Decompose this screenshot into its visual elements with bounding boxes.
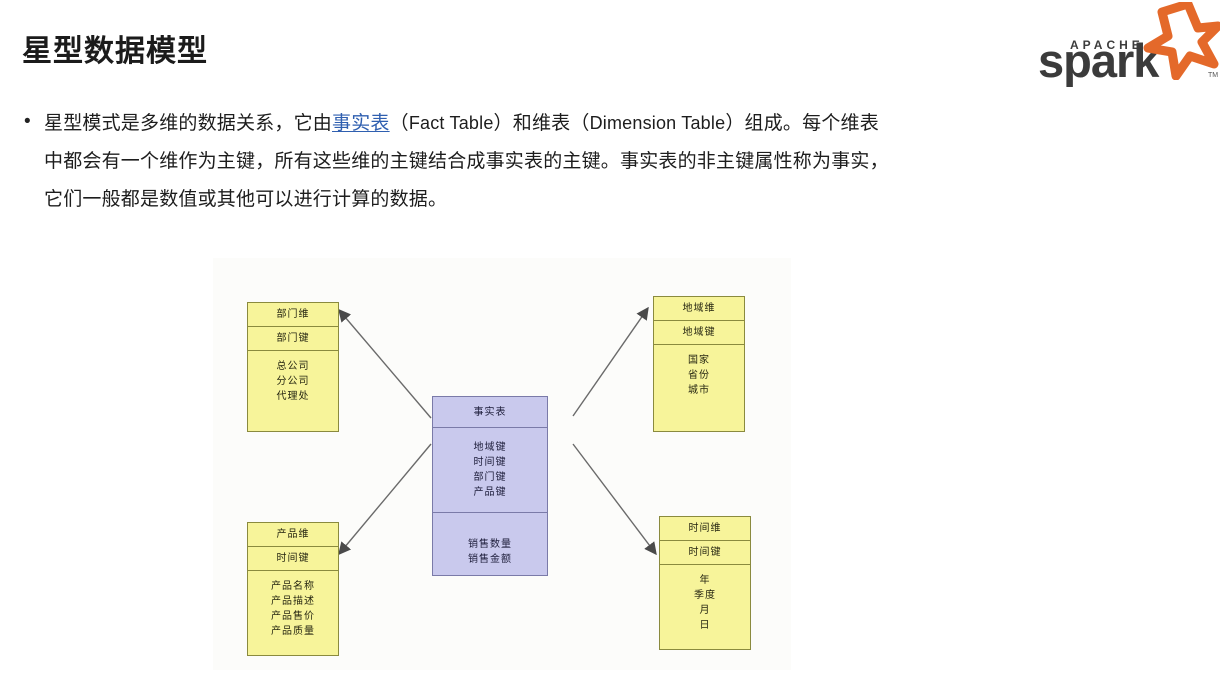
- field-label: 产品描述: [248, 594, 338, 609]
- region-dimension-table: 地域维 地域键 国家省份城市: [653, 296, 745, 432]
- dimension-header: 地域维: [654, 297, 744, 321]
- field-label: 年: [660, 573, 750, 588]
- field-label: 销售金额: [433, 552, 547, 567]
- bullet-marker: •: [24, 104, 44, 140]
- field-label: 城市: [654, 383, 744, 398]
- field-label: 国家: [654, 353, 744, 368]
- field-label: 部门键: [433, 470, 547, 485]
- apache-spark-logo: APACHE spark TM: [1032, 2, 1222, 88]
- paragraph-line: 中都会有一个维作为主键，所有这些维的主键结合成事实表的主键。事实表的非主键属性称…: [44, 143, 1024, 181]
- latin-term: Dimension Table: [590, 113, 726, 133]
- fact-table-keys: 地域键时间键部门键产品键: [433, 428, 547, 513]
- field-label: 产品质量: [248, 624, 338, 639]
- dimension-attributes: 年季度月日: [660, 565, 750, 641]
- fact-table-measures: 销售数量销售金额: [433, 513, 547, 581]
- text-run: 中都会有一个维作为主键，所有这些维的主键结合成事实表的主键。事实表的非主键属性称…: [44, 151, 889, 172]
- field-label: 产品键: [433, 485, 547, 500]
- body-paragraph: • 星型模式是多维的数据关系，它由事实表（Fact Table）和维表（Dime…: [24, 104, 1024, 219]
- field-label: 总公司: [248, 359, 338, 374]
- text-run: 星型模式是多维的数据关系，它由: [44, 113, 332, 134]
- field-label: 省份: [654, 368, 744, 383]
- connector-fact-to-region: [573, 308, 648, 416]
- dimension-attributes: 国家省份城市: [654, 345, 744, 406]
- connector-fact-to-product: [339, 444, 431, 554]
- field-label: 销售数量: [433, 537, 547, 552]
- field-label: 产品售价: [248, 609, 338, 624]
- field-label: 时间键: [433, 455, 547, 470]
- dimension-key: 地域键: [654, 321, 744, 345]
- bullet-item: • 星型模式是多维的数据关系，它由事实表（Fact Table）和维表（Dime…: [24, 104, 1024, 219]
- paragraph-line: 它们一般都是数值或其他可以进行计算的数据。: [44, 181, 1024, 219]
- time-dimension-table: 时间维 时间键 年季度月日: [659, 516, 751, 650]
- dimension-attributes: 产品名称产品描述产品售价产品质量: [248, 571, 338, 647]
- paragraph-line: 星型模式是多维的数据关系，它由事实表（Fact Table）和维表（Dimens…: [44, 104, 1024, 143]
- dimension-header: 时间维: [660, 517, 750, 541]
- connector-fact-to-time: [573, 444, 656, 554]
- text-run: （: [390, 113, 409, 134]
- field-label: 分公司: [248, 374, 338, 389]
- connector-fact-to-department: [339, 310, 431, 418]
- dimension-attributes: 总公司分公司代理处: [248, 351, 338, 412]
- latin-term: Fact Table: [409, 113, 494, 133]
- dimension-header: 部门维: [248, 303, 338, 327]
- field-label: 月: [660, 603, 750, 618]
- product-dimension-table: 产品维 时间键 产品名称产品描述产品售价产品质量: [247, 522, 339, 656]
- star-icon: [1136, 2, 1220, 80]
- department-dimension-table: 部门维 部门键 总公司分公司代理处: [247, 302, 339, 432]
- star-schema-diagram: 部门维 部门键 总公司分公司代理处 地域维 地域键 国家省份城市 产品维 时间键…: [213, 258, 791, 670]
- field-label: 代理处: [248, 389, 338, 404]
- trademark-label: TM: [1208, 72, 1218, 79]
- field-label: 地域键: [433, 440, 547, 455]
- field-label: 日: [660, 618, 750, 633]
- fact-table: 事实表 地域键时间键部门键产品键 销售数量销售金额: [432, 396, 548, 576]
- page-title: 星型数据模型: [22, 26, 208, 70]
- bullet-text: 星型模式是多维的数据关系，它由事实表（Fact Table）和维表（Dimens…: [44, 104, 1024, 219]
- dimension-key: 时间键: [248, 547, 338, 571]
- text-run: ）和维表（: [494, 113, 590, 134]
- dimension-header: 产品维: [248, 523, 338, 547]
- field-label: 季度: [660, 588, 750, 603]
- fact-table-header: 事实表: [433, 397, 547, 428]
- fact-table-link[interactable]: 事实表: [332, 113, 390, 134]
- dimension-key: 部门键: [248, 327, 338, 351]
- text-run: 它们一般都是数值或其他可以进行计算的数据。: [44, 189, 447, 210]
- dimension-key: 时间键: [660, 541, 750, 565]
- text-run: ）组成。每个维表: [725, 113, 879, 134]
- field-label: 产品名称: [248, 579, 338, 594]
